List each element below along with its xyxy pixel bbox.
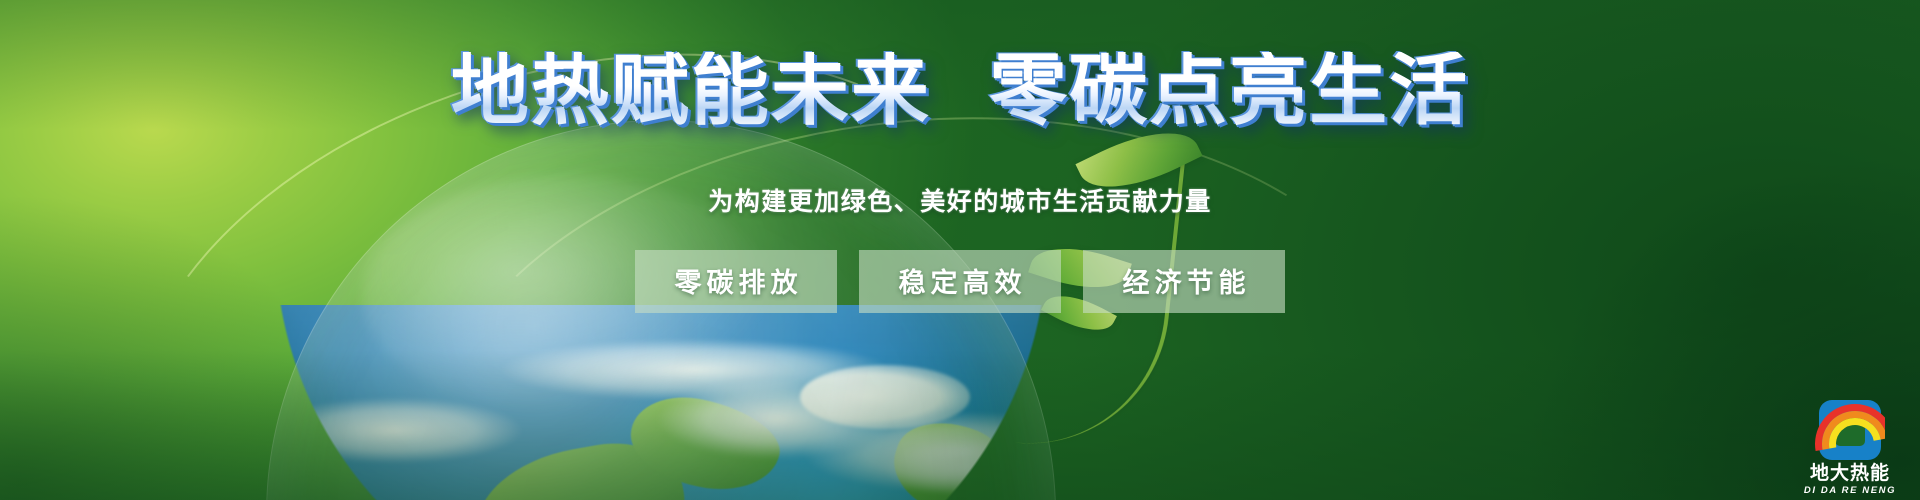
feature-tag-zero-carbon[interactable]: 零碳排放: [635, 250, 837, 313]
banner-content: 地热赋能未来 零碳点亮生活 为构建更加绿色、美好的城市生活贡献力量 零碳排放 稳…: [0, 0, 1920, 500]
banner-headline: 地热赋能未来 零碳点亮生活: [451, 52, 1469, 130]
logo-mark-icon: [1819, 400, 1881, 460]
logo-rainbow-arc-icon: [1813, 400, 1885, 472]
logo-name-en: DI DA RE NENG: [1798, 485, 1902, 496]
feature-tag-stable-efficient[interactable]: 稳定高效: [859, 250, 1061, 313]
feature-tag-economical[interactable]: 经济节能: [1083, 250, 1285, 313]
banner-subheadline: 为构建更加绿色、美好的城市生活贡献力量: [708, 182, 1212, 218]
company-logo[interactable]: 地大热能 DI DA RE NENG: [1798, 400, 1902, 496]
feature-tag-list: 零碳排放 稳定高效 经济节能: [635, 250, 1285, 313]
hero-banner: 地热赋能未来 零碳点亮生活 为构建更加绿色、美好的城市生活贡献力量 零碳排放 稳…: [0, 0, 1920, 500]
